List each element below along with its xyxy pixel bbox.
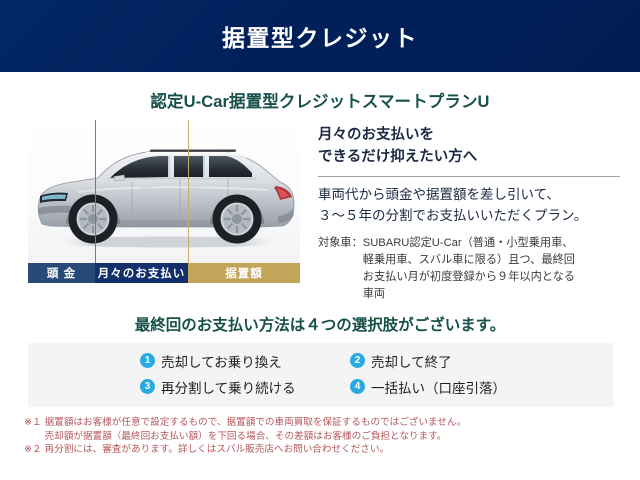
option-item-4[interactable]: 4 一括払い（口座引落） — [350, 377, 580, 397]
eligible-vehicles-note: 対象車： SUBARU認定U-Car（普通・小型乗用車、 軽乗用車、スバル車に限… — [318, 235, 620, 303]
option-label-2: 売却して終了 — [371, 351, 452, 371]
footnote-2-line-1: 再分割には、審査があります。詳しくはスバル販売店へお問い合わせください。 — [45, 443, 389, 457]
suv-side-view-illustration — [28, 120, 300, 263]
page-title: 据置型クレジット — [222, 19, 418, 53]
cost-segment-bar: 頭 金 月々のお支払い 据置額 — [28, 263, 300, 283]
lead-line-2: できるだけ抑えたい方へ — [318, 146, 620, 168]
final-payment-options-heading: 最終回のお支払い方法は４つの選択肢がございます。 — [0, 313, 640, 335]
option-item-3[interactable]: 3 再分割して乗り続ける — [140, 377, 350, 397]
option-number-badge-1: 1 — [140, 353, 155, 368]
segment-label-residual-value: 据置額 — [188, 263, 300, 283]
eligible-line-2: 軽乗用車、スバル車に限る）且つ、最終回 — [363, 252, 575, 269]
eligible-line-4: 車両 — [363, 286, 575, 303]
footnote-1-line-2: 売却額が据置額（最終回お支払い額）を下回る場合、その差額はお客様のご負担となりま… — [45, 430, 466, 444]
main-content-area: 頭 金 月々のお支払い 据置額 月々のお支払いを できるだけ抑えたい方へ 車両代… — [0, 112, 640, 303]
eligible-vehicles-lines: SUBARU認定U-Car（普通・小型乗用車、 軽乗用車、スバル車に限る）且つ、… — [363, 235, 575, 303]
option-label-4: 一括払い（口座引落） — [371, 377, 506, 397]
plan-lead-heading: 月々のお支払いを できるだけ抑えたい方へ — [318, 120, 620, 169]
segment-label-down-payment: 頭 金 — [28, 263, 95, 283]
eligible-line-1: SUBARU認定U-Car（普通・小型乗用車、 — [363, 235, 575, 252]
segment-divider-residual — [188, 120, 189, 263]
page-header-banner: 据置型クレジット — [0, 0, 640, 72]
footnote-1: ※１ 据置額はお客様が任意で設定するもので、据置額での車両買取を保証するものでは… — [24, 416, 640, 444]
eligible-vehicles-label: 対象車： — [318, 235, 363, 303]
footnote-1-mark: ※１ — [24, 416, 42, 444]
options-grid: 1 売却してお乗り換え 2 売却して終了 3 再分割して乗り続ける 4 一括払い… — [28, 351, 613, 397]
divider-rule — [318, 176, 620, 177]
option-label-3: 再分割して乗り続ける — [161, 377, 296, 397]
footnote-2-text: 再分割には、審査があります。詳しくはスバル販売店へお問い合わせください。 — [45, 443, 389, 457]
segment-divider-down-payment — [95, 120, 96, 263]
eligible-line-3: お支払い月が初度登録から９年以内となる — [363, 269, 575, 286]
car-cost-figure: 頭 金 月々のお支払い 据置額 — [28, 120, 300, 283]
footnote-1-line-1: 据置額はお客様が任意で設定するもので、据置額での車両買取を保証するものではござい… — [45, 416, 466, 430]
plan-description-column: 月々のお支払いを できるだけ抑えたい方へ 車両代から頭金や据置額を差し引いて、 … — [318, 120, 620, 303]
plan-subtitle: 認定U-Car据置型クレジットスマートプランU — [150, 93, 489, 111]
subtitle-row: 認定U-Car据置型クレジットスマートプランU — [0, 72, 640, 112]
option-item-2[interactable]: 2 売却して終了 — [350, 351, 580, 371]
option-number-badge-2: 2 — [350, 353, 365, 368]
final-payment-options-box: 1 売却してお乗り換え 2 売却して終了 3 再分割して乗り続ける 4 一括払い… — [28, 343, 613, 407]
option-item-1[interactable]: 1 売却してお乗り換え — [140, 351, 350, 371]
plan-body-copy: 車両代から頭金や据置額を差し引いて、 ３〜５年の分割でお支払いいただくプラン。 — [318, 184, 620, 227]
body-line-2: ３〜５年の分割でお支払いいただくプラン。 — [318, 205, 620, 226]
lead-line-1: 月々のお支払いを — [318, 124, 620, 146]
car-photo — [28, 120, 300, 263]
footnote-2: ※２ 再分割には、審査があります。詳しくはスバル販売店へお問い合わせください。 — [24, 443, 640, 457]
option-number-badge-4: 4 — [350, 379, 365, 394]
footnotes: ※１ 据置額はお客様が任意で設定するもので、据置額での車両買取を保証するものでは… — [24, 416, 640, 458]
option-number-badge-3: 3 — [140, 379, 155, 394]
footnote-2-mark: ※２ — [24, 443, 42, 457]
body-line-1: 車両代から頭金や据置額を差し引いて、 — [318, 184, 620, 205]
footnote-1-text: 据置額はお客様が任意で設定するもので、据置額での車両買取を保証するものではござい… — [45, 416, 466, 444]
option-label-1: 売却してお乗り換え — [161, 351, 282, 371]
segment-label-monthly-payment: 月々のお支払い — [95, 263, 188, 283]
